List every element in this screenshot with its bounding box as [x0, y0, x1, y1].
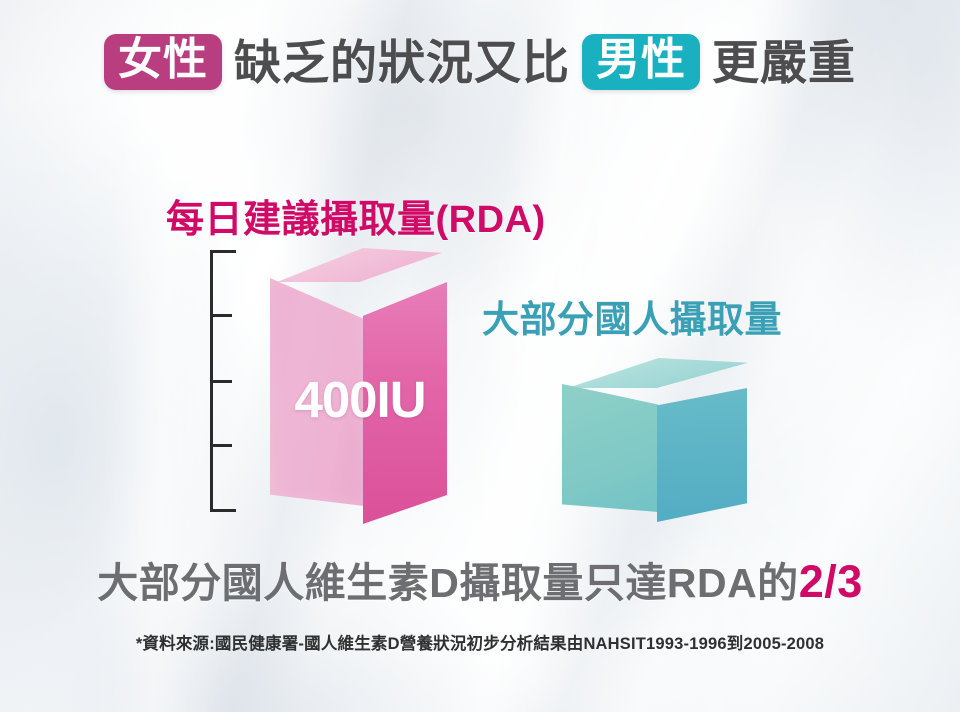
axis-tick-top — [210, 250, 236, 253]
chart-label-rda: 每日建議攝取量(RDA) — [166, 188, 546, 243]
source-footnote: *資料來源:國民健康署-國人維生素D營養狀況初步分析結果由NAHSIT1993-… — [0, 630, 960, 654]
conclusion-accent-fraction: 2/3 — [799, 556, 863, 607]
bar-actual-left-face — [562, 384, 658, 512]
axis-tick-1 — [210, 314, 232, 317]
slide-canvas: 女性 缺乏的狀況又比 男性 更嚴重 每日建議攝取量(RDA) 大部分國人攝取量 — [0, 0, 960, 712]
conclusion-line: 大部分國人維生素D攝取量只達RDA的2/3 — [0, 549, 960, 609]
conclusion-text: 大部分國人維生素D攝取量只達RDA的 — [97, 560, 798, 606]
bar-rda-top-face — [270, 248, 442, 282]
chart-y-axis-bracket — [196, 250, 230, 512]
bar-actual-intake — [556, 358, 760, 524]
bar-actual-top-face — [562, 358, 748, 388]
bar-rda-400iu: 400IU — [262, 248, 458, 520]
axis-tick-2 — [210, 380, 232, 383]
bar-actual-right-face — [657, 388, 747, 522]
bar-rda-value-label: 400IU — [262, 370, 458, 429]
chart-label-actual-intake: 大部分國人攝取量 — [482, 289, 782, 343]
axis-tick-3 — [210, 444, 232, 447]
axis-tick-bottom — [210, 509, 236, 512]
